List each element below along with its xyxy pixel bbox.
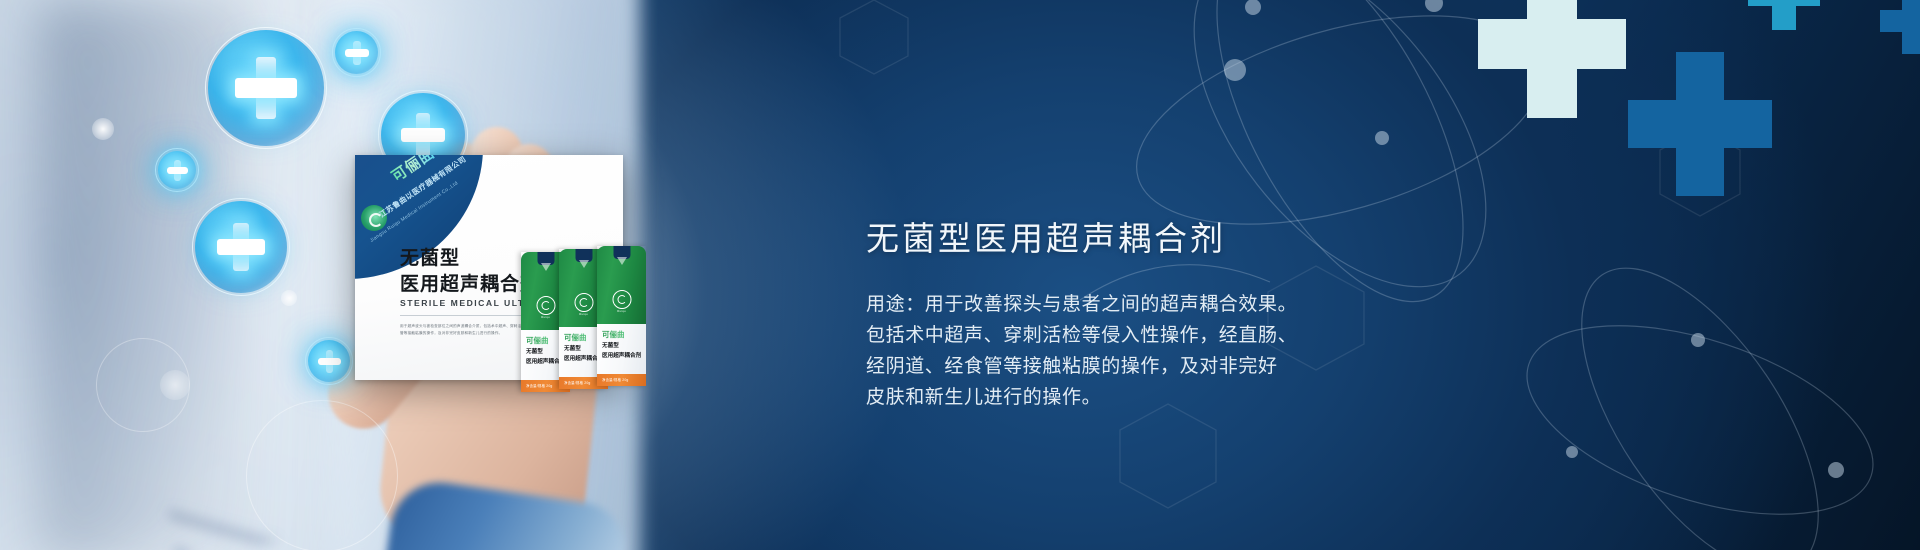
tear-arrow-icon	[579, 260, 589, 268]
sachet-footer-text: 净含量/规格 20g	[602, 377, 629, 382]
medical-cross-icon	[205, 27, 327, 149]
sachet-logo-caption: Ruiqu	[597, 309, 646, 313]
medical-cross-icon	[192, 198, 290, 296]
sachet-brand: 可俪曲	[602, 329, 625, 340]
copy-block: 无菌型医用超声耦合剂 用途：用于改善探头与患者之间的超声耦合效果。 包括术中超声…	[866, 218, 1506, 413]
description-line: 用途：用于改善探头与患者之间的超声耦合效果。	[866, 290, 1506, 321]
sachet-body: 可俪曲 无菌型 医用超声耦合剂	[597, 324, 646, 374]
light-spark	[281, 290, 297, 306]
medical-cross-icon	[1628, 52, 1772, 196]
page-title: 无菌型医用超声耦合剂	[866, 218, 1506, 259]
glow-ring	[246, 400, 398, 550]
sachet-line1: 无菌型	[564, 344, 581, 352]
box-title-line2: 医用超声耦合剂	[400, 269, 540, 296]
medical-cross-icon	[1478, 0, 1626, 118]
sachet-top: Ruiqu	[597, 246, 646, 324]
product-hero-banner: 可俪曲 江苏鲁曲以医疗器械有限公司 Jiangsu Ruiqu Medical …	[0, 0, 1920, 550]
tear-arrow-icon	[541, 263, 551, 271]
spiral-logo-icon	[612, 290, 631, 309]
sachet-brand: 可俪曲	[564, 332, 587, 343]
sachet-line1: 无菌型	[526, 347, 543, 355]
sachet-group: Ruiqu 可俪曲 无菌型 医用超声耦合剂 净含量/规格 20g Ruiqu 可…	[521, 246, 671, 391]
sachet-brand: 可俪曲	[526, 335, 549, 346]
spiral-logo-icon	[574, 293, 593, 312]
medical-cross-icon	[1880, 0, 1920, 54]
description-text: 用途：用于改善探头与患者之间的超声耦合效果。 包括术中超声、穿刺活检等侵入性操作…	[866, 290, 1506, 413]
light-spark	[160, 370, 190, 400]
light-spark	[92, 118, 114, 140]
tear-arrow-icon	[617, 257, 627, 265]
spiral-logo-icon	[536, 296, 555, 315]
medical-cross-icon	[1748, 0, 1820, 30]
box-title-line1: 无菌型	[400, 243, 460, 270]
description-line: 皮肤和新生儿进行的操作。	[866, 383, 1506, 414]
medical-cross-icon	[155, 148, 199, 192]
description-line: 包括术中超声、穿刺活检等侵入性操作，经直肠、	[866, 321, 1506, 352]
medical-cross-icon	[305, 337, 353, 385]
description-line: 经阴道、经食管等接触粘膜的操作，及对非完好	[866, 352, 1506, 383]
sachet-footer-text: 净含量/规格 20g	[564, 380, 591, 385]
sachet-footer-text: 净含量/规格 20g	[526, 383, 553, 388]
medical-cross-icon	[332, 28, 381, 77]
sachet-line2: 医用超声耦合剂	[602, 351, 641, 359]
sachet-line1: 无菌型	[602, 341, 619, 349]
sachet: Ruiqu 可俪曲 无菌型 医用超声耦合剂 净含量/规格 20g	[597, 246, 646, 386]
sachet-footer: 净含量/规格 20g	[597, 374, 646, 386]
